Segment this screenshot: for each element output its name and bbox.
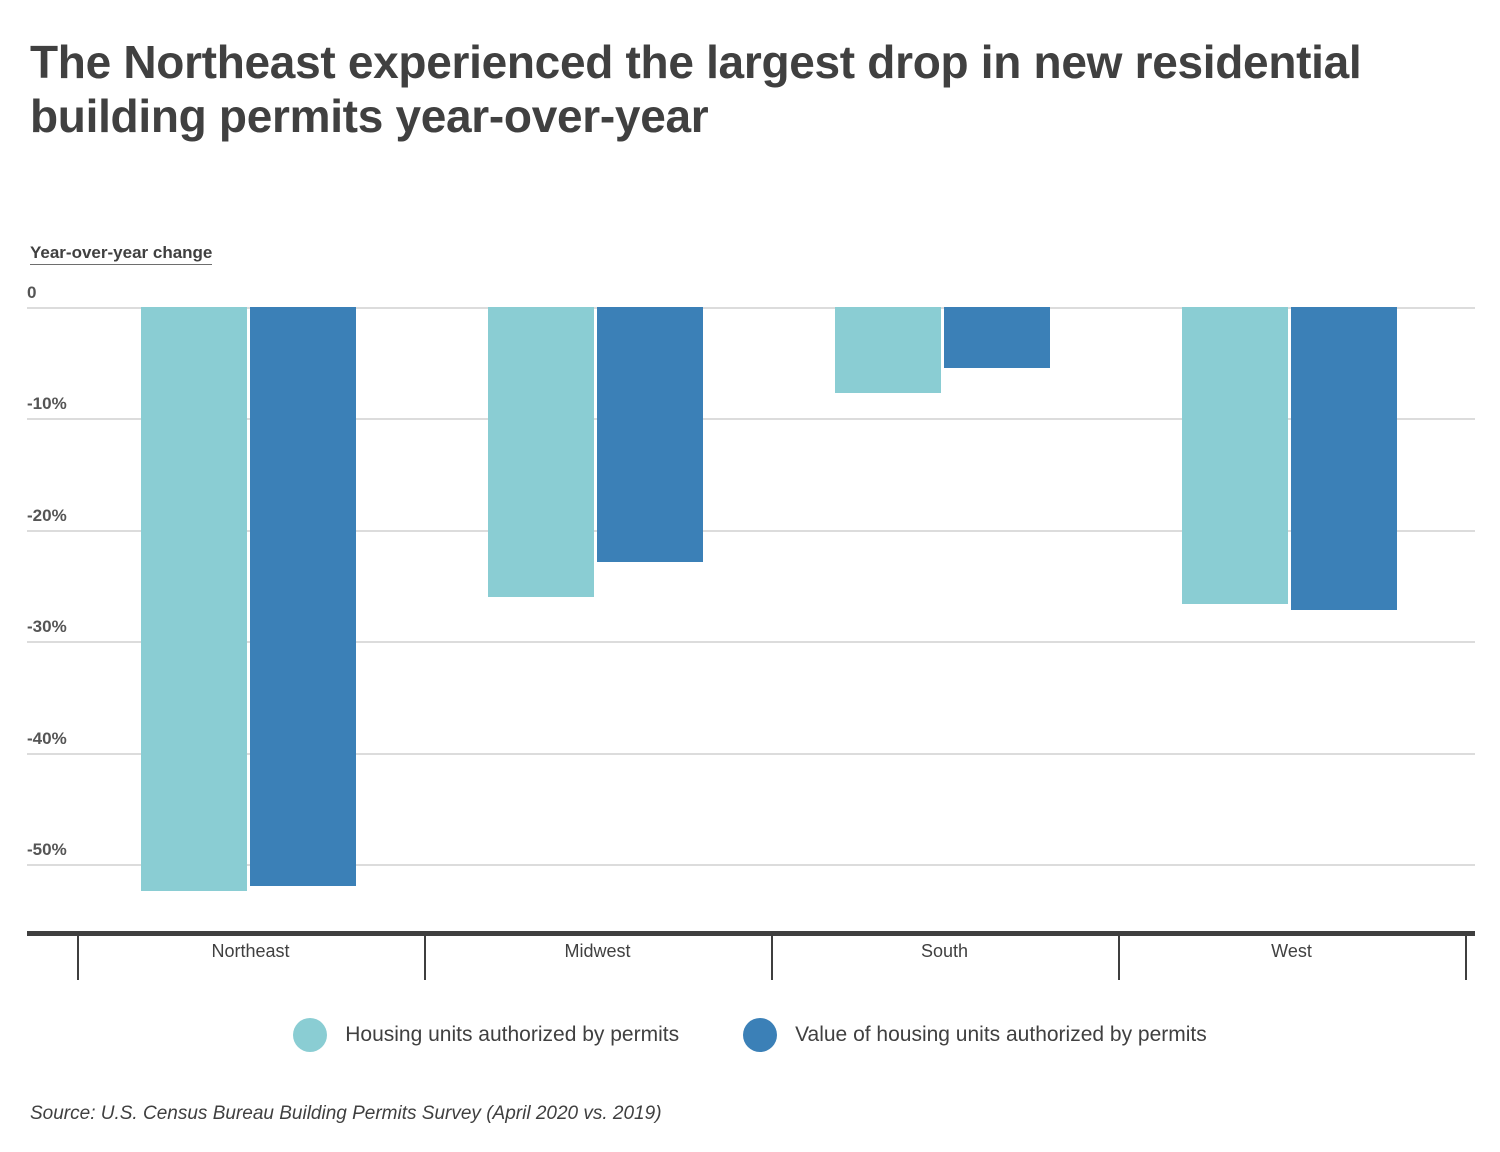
y-tick-label: -30%	[27, 617, 67, 637]
bar-northeast-series-1[interactable]	[250, 307, 356, 886]
y-tick-label: -20%	[27, 506, 67, 526]
y-tick-label: -40%	[27, 729, 67, 749]
category-label-west: West	[1118, 941, 1465, 962]
y-tick-label: -10%	[27, 394, 67, 414]
category-label-south: South	[771, 941, 1118, 962]
y-tick-label: 0	[27, 283, 36, 303]
legend-item-1[interactable]: Value of housing units authorized by per…	[743, 1018, 1207, 1052]
page-title: The Northeast experienced the largest dr…	[30, 36, 1450, 144]
y-axis-caption: Year-over-year change	[30, 243, 212, 265]
legend-label-1: Value of housing units authorized by per…	[795, 1023, 1207, 1047]
bar-northeast-series-0[interactable]	[141, 307, 247, 891]
bar-south-series-0[interactable]	[835, 307, 941, 393]
category-separator-end	[1465, 936, 1467, 980]
bar-midwest-series-1[interactable]	[597, 307, 703, 562]
legend-item-0[interactable]: Housing units authorized by permits	[293, 1018, 679, 1052]
category-axis-line	[27, 931, 1475, 936]
category-label-midwest: Midwest	[424, 941, 771, 962]
legend: Housing units authorized by permits Valu…	[0, 1018, 1500, 1052]
y-tick-label: -50%	[27, 840, 67, 860]
category-label-northeast: Northeast	[77, 941, 424, 962]
source-note: Source: U.S. Census Bureau Building Perm…	[30, 1103, 662, 1125]
legend-swatch-icon-1	[743, 1018, 777, 1052]
legend-label-0: Housing units authorized by permits	[345, 1023, 679, 1047]
plot-area: 0-10%-20%-30%-40%-50%	[0, 307, 1475, 933]
bar-south-series-1[interactable]	[944, 307, 1050, 368]
bar-west-series-0[interactable]	[1182, 307, 1288, 604]
bar-midwest-series-0[interactable]	[488, 307, 594, 597]
legend-swatch-icon-0	[293, 1018, 327, 1052]
bar-west-series-1[interactable]	[1291, 307, 1397, 610]
